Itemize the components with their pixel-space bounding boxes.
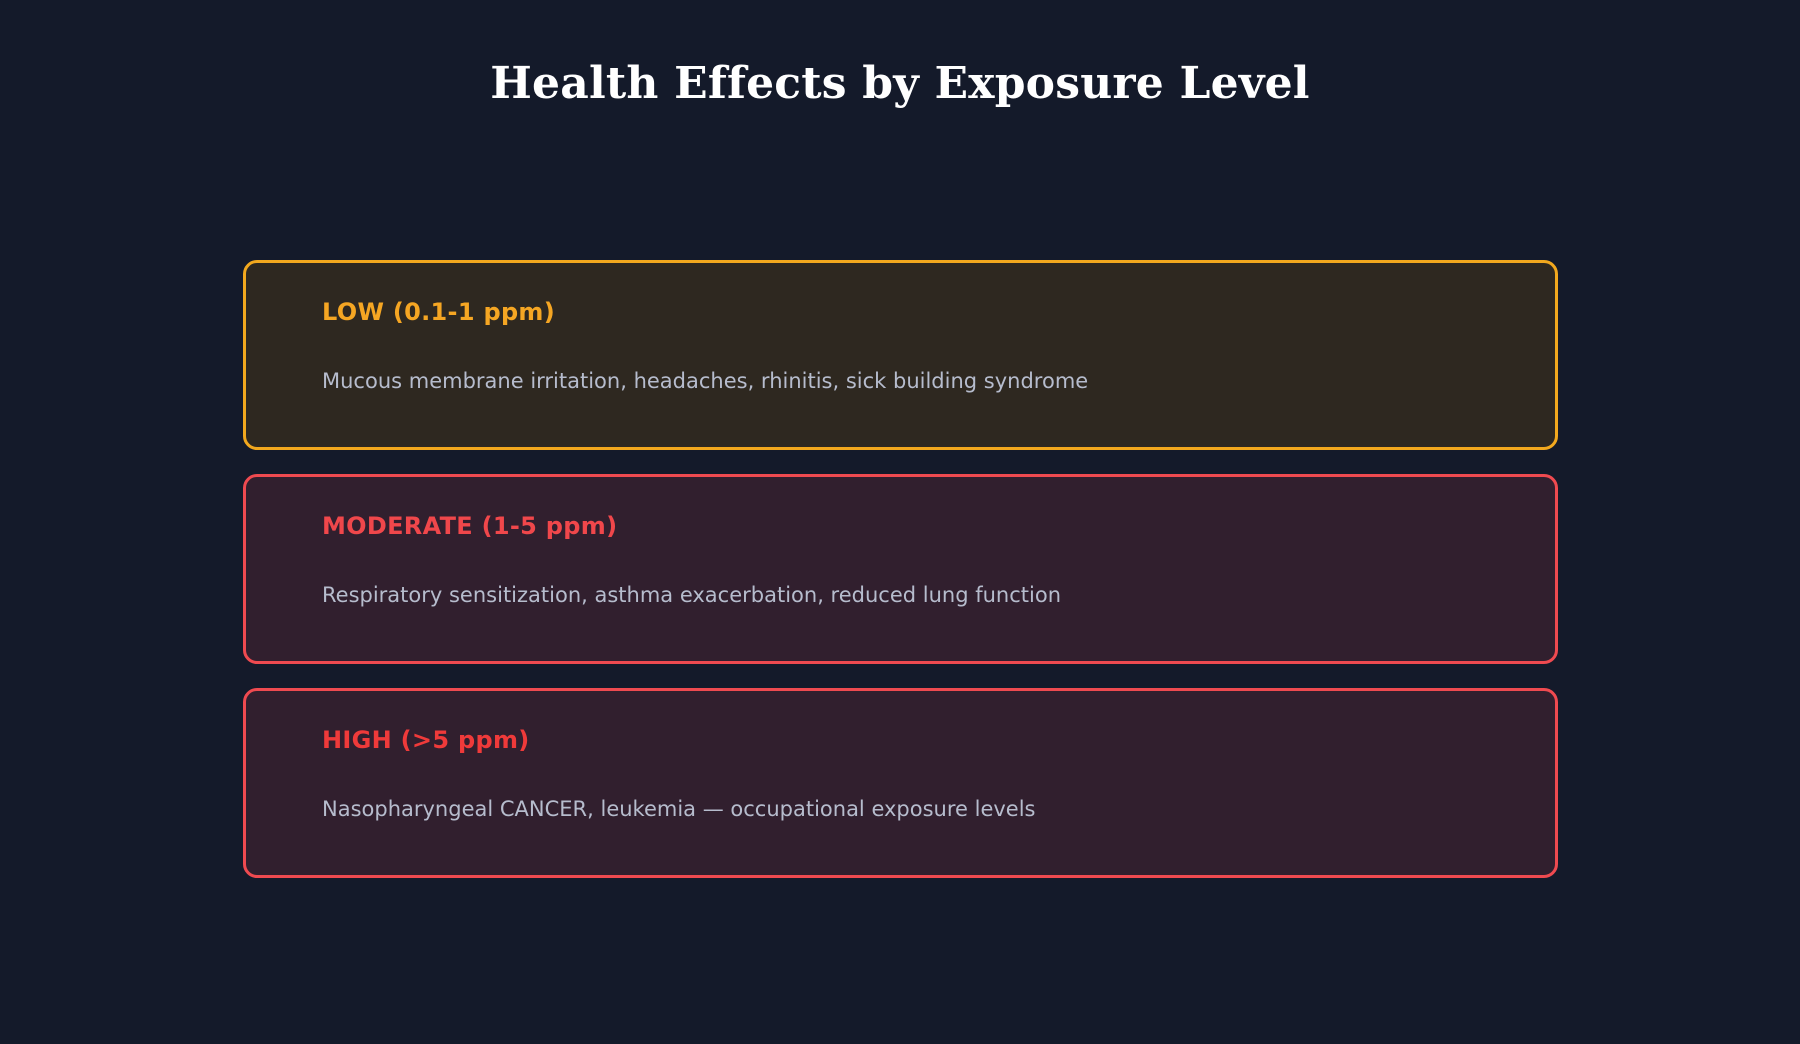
- exposure-level-heading-moderate: MODERATE (1-5 ppm): [322, 511, 1479, 541]
- exposure-level-card-list: LOW (0.1-1 ppm) Mucous membrane irritati…: [243, 260, 1558, 878]
- page-title: Health Effects by Exposure Level: [0, 58, 1800, 111]
- exposure-level-body-high: Nasopharyngeal CANCER, leukemia — occupa…: [322, 795, 1479, 824]
- exposure-level-heading-high: HIGH (>5 ppm): [322, 725, 1479, 755]
- exposure-level-body-moderate: Respiratory sensitization, asthma exacer…: [322, 581, 1479, 610]
- exposure-level-body-low: Mucous membrane irritation, headaches, r…: [322, 367, 1479, 396]
- exposure-level-card-high: HIGH (>5 ppm) Nasopharyngeal CANCER, leu…: [243, 688, 1558, 878]
- exposure-level-card-moderate: MODERATE (1-5 ppm) Respiratory sensitiza…: [243, 474, 1558, 664]
- exposure-level-page: Health Effects by Exposure Level LOW (0.…: [0, 0, 1800, 1044]
- exposure-level-card-low: LOW (0.1-1 ppm) Mucous membrane irritati…: [243, 260, 1558, 450]
- exposure-level-heading-low: LOW (0.1-1 ppm): [322, 297, 1479, 327]
